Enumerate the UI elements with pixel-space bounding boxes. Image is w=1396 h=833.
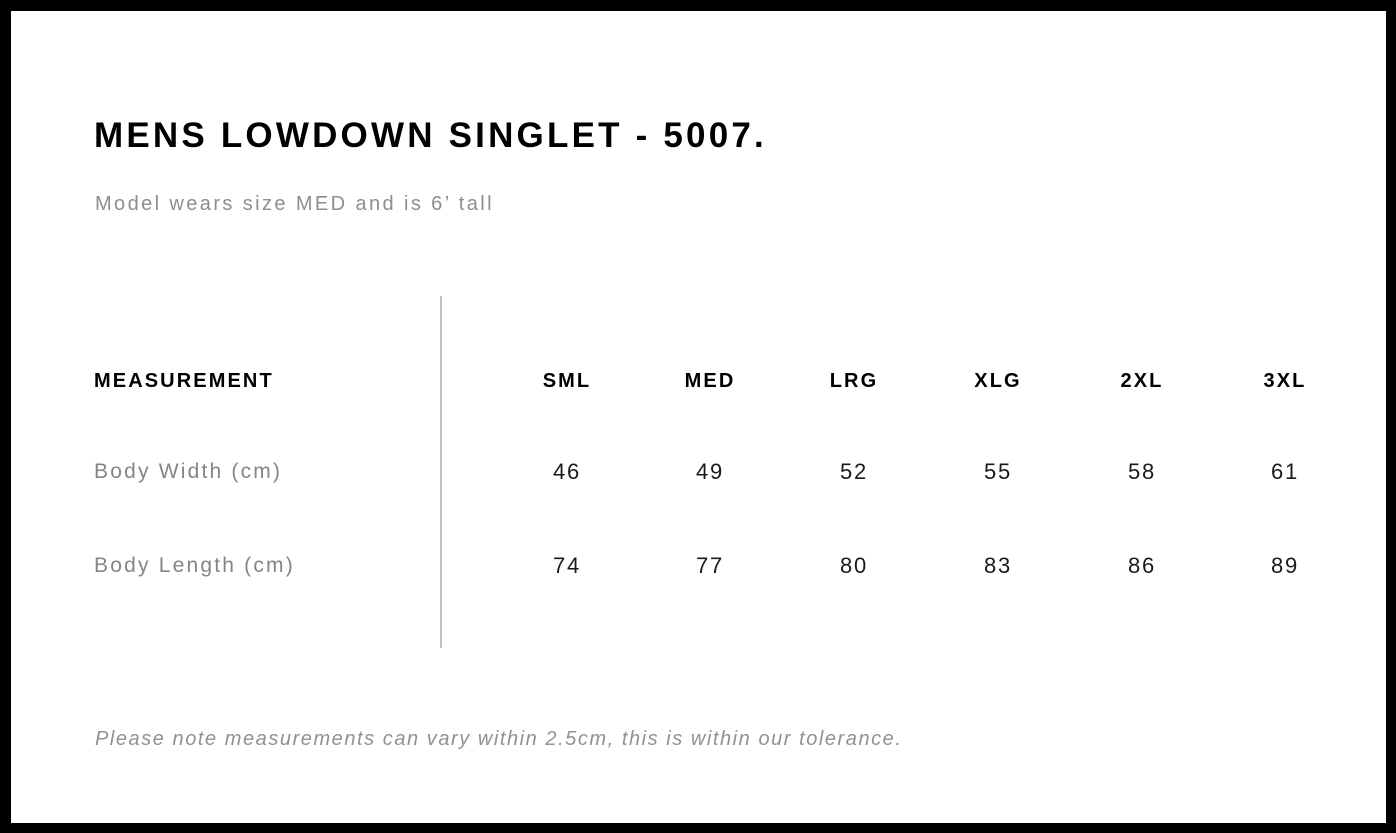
- column-header-xlg: XLG: [938, 364, 1058, 398]
- cell-body-length-2xl: 86: [1082, 549, 1202, 583]
- column-header-2xl: 2XL: [1082, 364, 1202, 398]
- cell-body-width-3xl: 61: [1225, 455, 1345, 489]
- cell-body-width-lrg: 52: [794, 455, 914, 489]
- cell-body-length-med: 77: [650, 549, 770, 583]
- table-header-row: MEASUREMENT SML MED LRG XLG 2XL 3XL: [11, 364, 1386, 398]
- column-header-sml: SML: [507, 364, 627, 398]
- column-header-3xl: 3XL: [1225, 364, 1345, 398]
- cell-body-length-3xl: 89: [1225, 549, 1345, 583]
- row-label-body-width: Body Width (cm): [94, 455, 282, 489]
- column-header-med: MED: [650, 364, 770, 398]
- cell-body-width-xlg: 55: [938, 455, 1058, 489]
- cell-body-width-2xl: 58: [1082, 455, 1202, 489]
- cell-body-width-med: 49: [650, 455, 770, 489]
- measurement-table: MEASUREMENT SML MED LRG XLG 2XL 3XL Body…: [11, 11, 1386, 823]
- column-header-measurement: MEASUREMENT: [94, 364, 274, 398]
- cell-body-length-sml: 74: [507, 549, 627, 583]
- table-row: Body Width (cm) 46 49 52 55 58 61: [11, 455, 1386, 489]
- row-label-body-length: Body Length (cm): [94, 549, 295, 583]
- cell-body-width-sml: 46: [507, 455, 627, 489]
- column-header-lrg: LRG: [794, 364, 914, 398]
- table-row: Body Length (cm) 74 77 80 83 86 89: [11, 549, 1386, 583]
- cell-body-length-lrg: 80: [794, 549, 914, 583]
- cell-body-length-xlg: 83: [938, 549, 1058, 583]
- size-chart-sheet: MENS LOWDOWN SINGLET - 5007. Model wears…: [11, 11, 1386, 823]
- size-chart-card: MENS LOWDOWN SINGLET - 5007. Model wears…: [0, 0, 1396, 833]
- tolerance-note: Please note measurements can vary within…: [95, 727, 902, 751]
